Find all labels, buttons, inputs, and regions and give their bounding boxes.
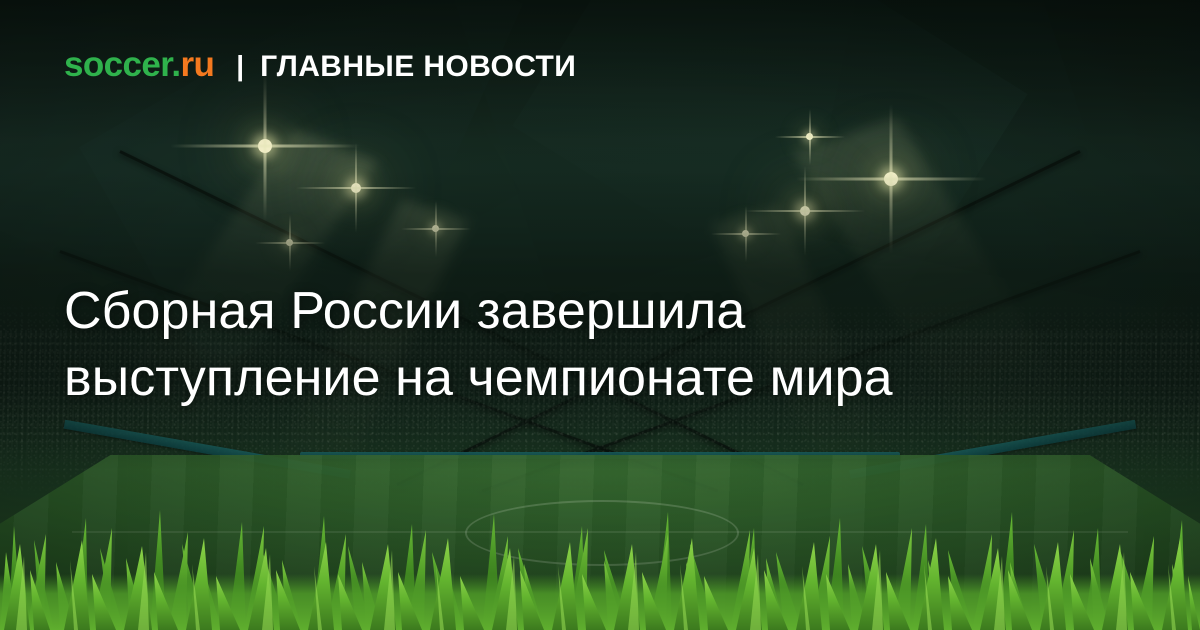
logo-tld-text: ru [180, 45, 214, 84]
social-share-card: soccer.ru | ГЛАВНЫЕ НОВОСТИ Сборная Росс… [0, 0, 1200, 630]
pitch-halfway-line [72, 531, 1128, 533]
header-kicker-label: ГЛАВНЫЕ НОВОСТИ [260, 52, 576, 82]
headline-line-1: Сборная России завершила [64, 278, 1074, 345]
soccer-ru-logo[interactable]: soccer.ru [64, 47, 214, 82]
header-separator: | [236, 52, 244, 80]
pitch-center-circle [465, 500, 739, 566]
floodlight-icon [286, 239, 293, 246]
floodlight-icon [806, 133, 813, 140]
floodlight-icon [432, 225, 439, 232]
logo-name-text: soccer [64, 45, 171, 84]
site-header: soccer.ru | ГЛАВНЫЕ НОВОСТИ [64, 47, 576, 82]
floodlight-icon [884, 172, 898, 186]
headline-line-2: выступление на чемпионате мира [64, 345, 1074, 412]
floodlight-icon [258, 139, 272, 153]
floodlight-icon [351, 183, 361, 193]
floodlight-icon [800, 206, 810, 216]
headline-title: Сборная России завершила выступление на … [64, 278, 1074, 412]
floodlight-icon [742, 230, 749, 237]
